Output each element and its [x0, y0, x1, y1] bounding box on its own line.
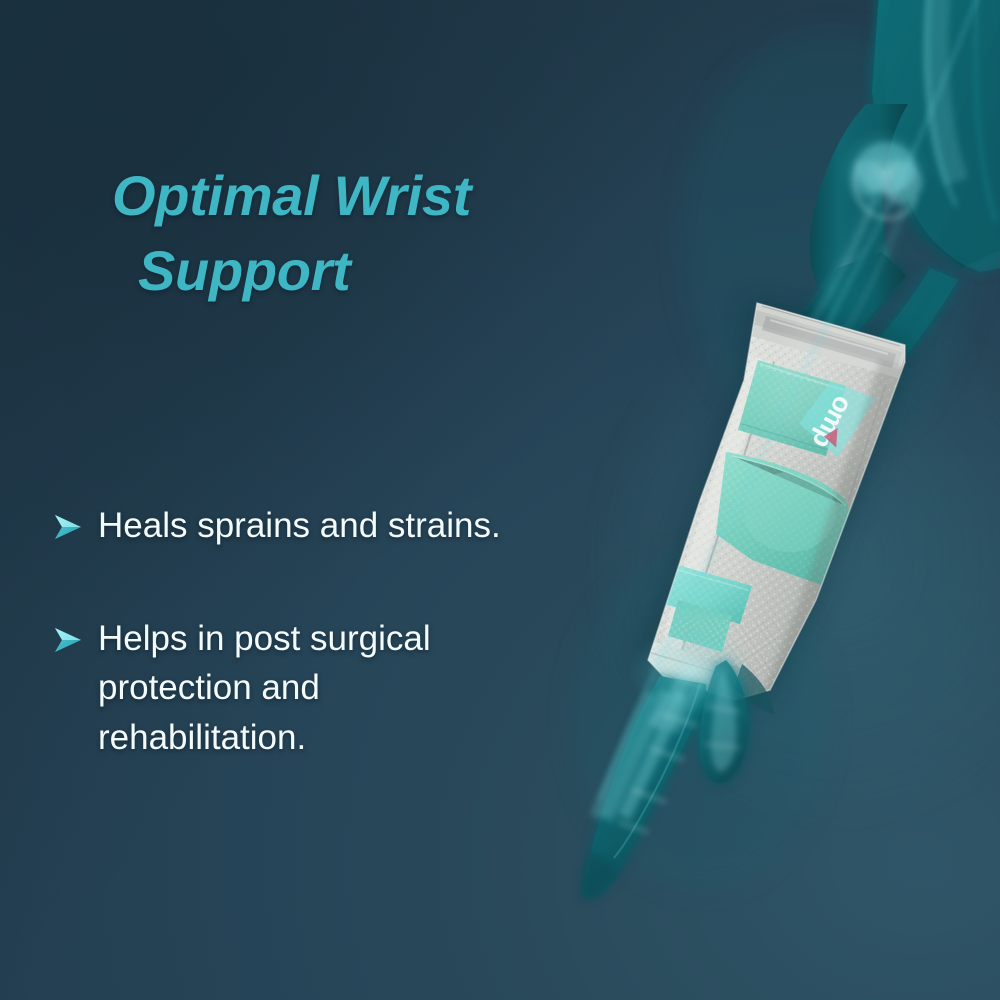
headline-line-2: Support [112, 233, 672, 308]
headline-line-1: Optimal Wrist [112, 164, 471, 227]
page-title: Optimal Wrist Support [112, 158, 672, 308]
list-item: Helps in post surgical protection and re… [48, 613, 648, 763]
benefit-list: Heals sprains and strains. [48, 500, 648, 763]
list-item: Heals sprains and strains. [48, 500, 648, 551]
arrow-bullet-icon [48, 507, 88, 547]
list-item-label: Helps in post surgical protection and re… [98, 613, 528, 763]
arrow-bullet-icon [48, 620, 88, 660]
list-item-label: Heals sprains and strains. [98, 500, 501, 551]
product-poster: omp [0, 0, 1000, 1000]
